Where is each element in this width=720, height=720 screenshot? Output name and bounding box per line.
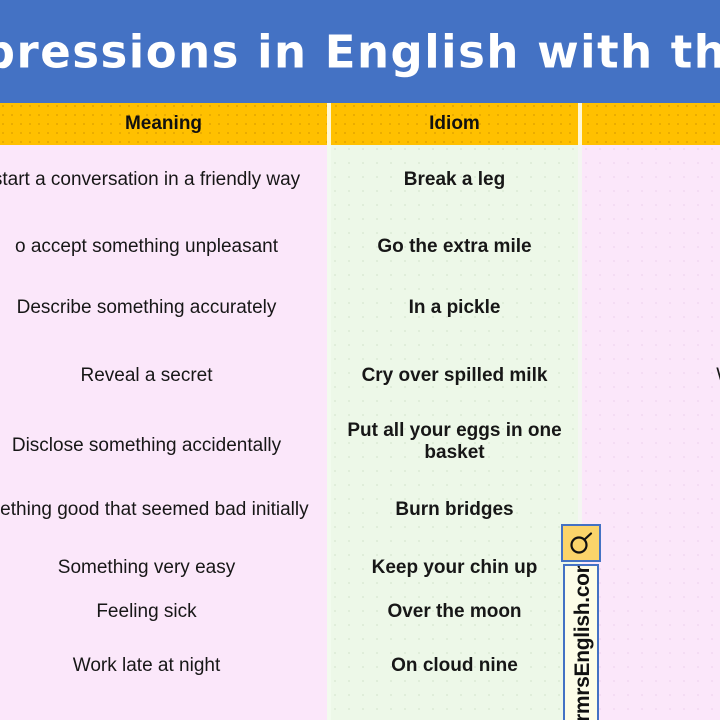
table-cell-idiom: Break a leg <box>331 145 578 215</box>
table-cell-meaning: Feeling sick <box>0 591 327 633</box>
table-cell-idiom: Go the extra mile <box>331 218 578 276</box>
watermark-text-box: rmrsEnglish.com <box>563 564 599 720</box>
column-divider-1 <box>327 145 331 720</box>
table-cell-third <box>582 145 720 215</box>
table-cell-meaning: Something very easy <box>0 547 327 589</box>
watermark-text: rmrsEnglish.com <box>565 566 599 720</box>
table-cell-meaning: Work late at night <box>0 645 327 687</box>
table-cell-third: Re <box>582 477 720 543</box>
table-cell-idiom: Over the moon <box>331 591 578 633</box>
table-cell-third: Worry over <box>582 347 720 405</box>
table-cell-idiom: Keep your chin up <box>331 547 578 589</box>
table-cell-meaning: start a conversation in a friendly way <box>0 145 327 215</box>
table-cell-meaning: Describe something accurately <box>0 279 327 337</box>
magnifier-icon <box>561 524 601 562</box>
table-cell-idiom: Put all your eggs in one basket <box>331 409 578 475</box>
table-header-row: Meaning Idiom <box>0 103 720 145</box>
column-header-meaning: Meaning <box>0 103 327 145</box>
table-cell-third: Pu <box>582 218 720 276</box>
title-band: Expressions in English with their <box>0 0 720 103</box>
table-cell-third: Des <box>582 547 720 589</box>
table-cell-idiom: Cry over spilled milk <box>331 347 578 405</box>
table-cell-third <box>582 591 720 633</box>
table-cell-third: In a <box>582 279 720 337</box>
table-cell-meaning: Disclose something accidentally <box>0 417 327 475</box>
watermark-badge[interactable]: rmrsEnglish.com <box>561 524 601 720</box>
column-idiom: Break a leg Go the extra mile In a pickl… <box>331 145 578 720</box>
table-cell-meaning: mething good that seemed bad initially <box>0 477 327 543</box>
table-cell-third: E <box>582 645 720 687</box>
table-cell-third <box>582 409 720 475</box>
column-header-third <box>582 103 720 145</box>
table-cell-idiom: Burn bridges <box>331 477 578 543</box>
table-cell-idiom: In a pickle <box>331 279 578 337</box>
header-divider-2 <box>578 103 582 145</box>
page-title: Expressions in English with their <box>0 25 720 78</box>
idioms-infographic: Expressions in English with their Meanin… <box>0 0 720 720</box>
column-third: Pu In a Worry over Re Des E <box>582 145 720 720</box>
table-cell-idiom: On cloud nine <box>331 645 578 687</box>
header-divider-1 <box>327 103 331 145</box>
column-meaning: start a conversation in a friendly way o… <box>0 145 327 720</box>
table-cell-meaning: Reveal a secret <box>0 347 327 405</box>
column-header-idiom: Idiom <box>331 103 578 145</box>
table-cell-meaning: o accept something unpleasant <box>0 218 327 276</box>
